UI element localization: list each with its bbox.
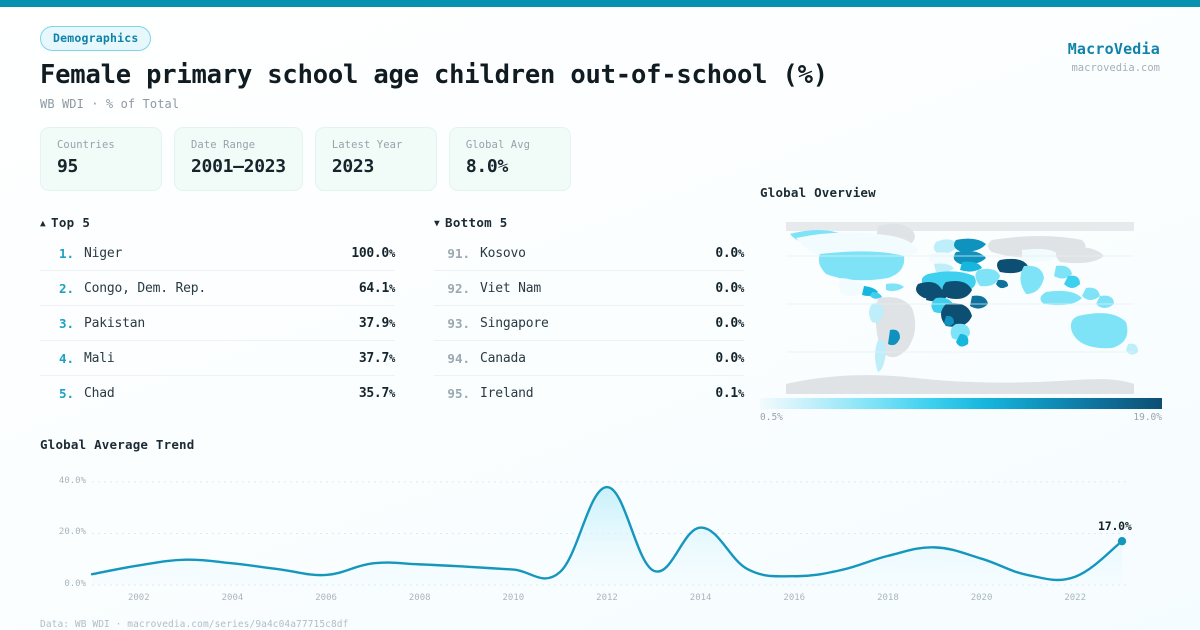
table-row[interactable]: 3. Pakistan 37.9% bbox=[40, 306, 395, 341]
x-tick-label: 2020 bbox=[971, 593, 993, 603]
value-number: 64.1 bbox=[359, 281, 389, 296]
top5-heading-label: Top 5 bbox=[51, 215, 90, 230]
value: 0.0% bbox=[715, 351, 744, 366]
x-tick-label: 2022 bbox=[1064, 593, 1086, 603]
brand-url: macrovedia.com bbox=[1068, 62, 1160, 74]
x-tick-label: 2006 bbox=[315, 593, 337, 603]
y-tick-label: 0.0% bbox=[64, 579, 86, 589]
stat-card-date-range: Date Range 2001–2023 bbox=[174, 127, 303, 191]
map-country bbox=[886, 283, 904, 291]
x-tick-label: 2010 bbox=[503, 593, 525, 603]
percent-sign: % bbox=[738, 283, 744, 295]
value-number: 37.7 bbox=[359, 351, 389, 366]
brand-name: MacroVedia bbox=[1068, 40, 1160, 58]
bottom5-heading: ▼Bottom 5 bbox=[434, 215, 744, 230]
percent-sign: % bbox=[389, 283, 395, 295]
category-badge[interactable]: Demographics bbox=[40, 26, 151, 51]
value-number: 100.0 bbox=[351, 246, 389, 261]
map-country bbox=[1020, 266, 1044, 294]
table-row[interactable]: 2. Congo, Dem. Rep. 64.1% bbox=[40, 271, 395, 306]
top-accent-bar bbox=[0, 0, 1200, 7]
legend-max-label: 19.0% bbox=[1133, 412, 1162, 423]
world-map[interactable] bbox=[760, 212, 1162, 394]
map-country bbox=[786, 375, 1134, 394]
table-row[interactable]: 5. Chad 35.7% bbox=[40, 376, 395, 410]
country-name: Canada bbox=[480, 351, 715, 366]
rank: 95. bbox=[434, 386, 470, 401]
map-region bbox=[786, 222, 1134, 231]
top5-column: ▲Top 5 1. Niger 100.0% 2. Congo, Dem. Re… bbox=[40, 215, 395, 410]
table-row[interactable]: 93. Singapore 0.0% bbox=[434, 306, 744, 341]
map-title: Global Overview bbox=[760, 185, 1162, 200]
map-country bbox=[970, 296, 988, 309]
country-name: Kosovo bbox=[480, 246, 715, 261]
stat-value: 2001–2023 bbox=[191, 156, 286, 177]
stat-card-global-avg: Global Avg 8.0% bbox=[449, 127, 571, 191]
world-map-svg bbox=[760, 212, 1162, 394]
stat-cards: Countries 95 Date Range 2001–2023 Latest… bbox=[40, 127, 1160, 191]
value-number: 0.0 bbox=[715, 246, 738, 261]
table-row[interactable]: 92. Viet Nam 0.0% bbox=[434, 271, 744, 306]
global-overview-panel: Global Overview 0.5% 19.0% bbox=[760, 185, 1162, 423]
map-country bbox=[839, 278, 866, 296]
value: 100.0% bbox=[351, 246, 395, 261]
country-name: Ireland bbox=[480, 386, 715, 401]
rank: 91. bbox=[434, 246, 470, 261]
bottom5-column: ▼Bottom 5 91. Kosovo 0.0% 92. Viet Nam 0… bbox=[434, 215, 744, 410]
x-tick-label: 2002 bbox=[128, 593, 150, 603]
country-name: Chad bbox=[84, 386, 359, 401]
rank: 92. bbox=[434, 281, 470, 296]
percent-sign: % bbox=[738, 318, 744, 330]
country-name: Singapore bbox=[480, 316, 715, 331]
x-tick-label: 2004 bbox=[222, 593, 244, 603]
table-row[interactable]: 91. Kosovo 0.0% bbox=[434, 236, 744, 271]
value-number: 35.7 bbox=[359, 386, 389, 401]
stat-label: Countries bbox=[57, 139, 145, 151]
table-row[interactable]: 94. Canada 0.0% bbox=[434, 341, 744, 376]
brand: MacroVedia macrovedia.com bbox=[1068, 40, 1160, 74]
value: 0.0% bbox=[715, 316, 744, 331]
rank: 93. bbox=[434, 316, 470, 331]
rank: 2. bbox=[40, 281, 74, 296]
value: 0.0% bbox=[715, 281, 744, 296]
footer-source: Data: WB WDI · macrovedia.com/series/9a4… bbox=[40, 619, 348, 630]
stat-value: 2023 bbox=[332, 156, 420, 177]
page-wrapper: Demographics Female primary school age c… bbox=[0, 7, 1200, 630]
table-row[interactable]: 95. Ireland 0.1% bbox=[434, 376, 744, 410]
map-country bbox=[875, 340, 886, 372]
percent-sign: % bbox=[389, 353, 395, 365]
stat-label: Date Range bbox=[191, 139, 286, 151]
value: 64.1% bbox=[359, 281, 395, 296]
percent-sign: % bbox=[389, 388, 395, 400]
value: 0.0% bbox=[715, 246, 744, 261]
rank: 4. bbox=[40, 351, 74, 366]
trend-chart-svg bbox=[40, 461, 1160, 591]
x-tick-label: 2018 bbox=[877, 593, 899, 603]
x-tick-label: 2012 bbox=[596, 593, 618, 603]
value-number: 37.9 bbox=[359, 316, 389, 331]
map-country bbox=[1056, 247, 1104, 263]
trend-panel: Global Average Trend 0.0%20.0%40.0% 2002… bbox=[40, 437, 1160, 591]
y-tick-label: 40.0% bbox=[59, 476, 86, 486]
value-number: 0.0 bbox=[715, 316, 738, 331]
stat-value: 8.0% bbox=[466, 156, 554, 177]
rank: 5. bbox=[40, 386, 74, 401]
bottom5-heading-label: Bottom 5 bbox=[445, 215, 508, 230]
rank: 1. bbox=[40, 246, 74, 261]
x-tick-label: 2008 bbox=[409, 593, 431, 603]
stat-card-latest-year: Latest Year 2023 bbox=[315, 127, 437, 191]
top5-heading: ▲Top 5 bbox=[40, 215, 395, 230]
rank: 94. bbox=[434, 351, 470, 366]
value: 0.1% bbox=[715, 386, 744, 401]
percent-sign: % bbox=[738, 353, 744, 365]
map-country bbox=[1126, 344, 1138, 355]
x-tick-label: 2016 bbox=[783, 593, 805, 603]
page-subtitle: WB WDI · % of Total bbox=[40, 97, 1160, 111]
stat-card-countries: Countries 95 bbox=[40, 127, 162, 191]
trend-chart[interactable]: 0.0%20.0%40.0% 2002200420062008201020122… bbox=[40, 461, 1160, 591]
map-country bbox=[934, 264, 954, 273]
stat-value: 95 bbox=[57, 156, 145, 177]
map-country bbox=[954, 239, 986, 252]
stat-label: Latest Year bbox=[332, 139, 420, 151]
map-country bbox=[934, 239, 958, 254]
map-country bbox=[1082, 288, 1100, 300]
percent-sign: % bbox=[389, 248, 395, 260]
value: 35.7% bbox=[359, 386, 395, 401]
value-number: 0.0 bbox=[715, 281, 738, 296]
map-country bbox=[996, 280, 1008, 288]
legend-min-label: 0.5% bbox=[760, 412, 783, 423]
map-country bbox=[1096, 296, 1114, 308]
trend-end-label: 17.0% bbox=[1098, 519, 1132, 533]
trend-title: Global Average Trend bbox=[40, 437, 1160, 452]
map-country bbox=[1040, 291, 1082, 305]
value-number: 0.1 bbox=[715, 386, 738, 401]
country-name: Pakistan bbox=[84, 316, 359, 331]
value-number: 0.0 bbox=[715, 351, 738, 366]
country-name: Congo, Dem. Rep. bbox=[84, 281, 359, 296]
country-name: Viet Nam bbox=[480, 281, 715, 296]
value: 37.9% bbox=[359, 316, 395, 331]
map-legend-labels: 0.5% 19.0% bbox=[760, 412, 1162, 423]
table-row[interactable]: 1. Niger 100.0% bbox=[40, 236, 395, 271]
rank: 3. bbox=[40, 316, 74, 331]
table-row[interactable]: 4. Mali 37.7% bbox=[40, 341, 395, 376]
triangle-up-icon: ▲ bbox=[40, 218, 46, 229]
country-name: Niger bbox=[84, 246, 351, 261]
x-tick-label: 2014 bbox=[690, 593, 712, 603]
percent-sign: % bbox=[389, 318, 395, 330]
stat-label: Global Avg bbox=[466, 139, 554, 151]
percent-sign: % bbox=[738, 248, 744, 260]
value: 37.7% bbox=[359, 351, 395, 366]
map-country bbox=[1071, 313, 1128, 348]
percent-sign: % bbox=[738, 388, 744, 400]
page-title: Female primary school age children out-o… bbox=[40, 60, 1160, 90]
map-legend-gradient bbox=[760, 398, 1162, 409]
country-name: Mali bbox=[84, 351, 359, 366]
triangle-down-icon: ▼ bbox=[434, 218, 440, 229]
y-tick-label: 20.0% bbox=[59, 527, 86, 537]
